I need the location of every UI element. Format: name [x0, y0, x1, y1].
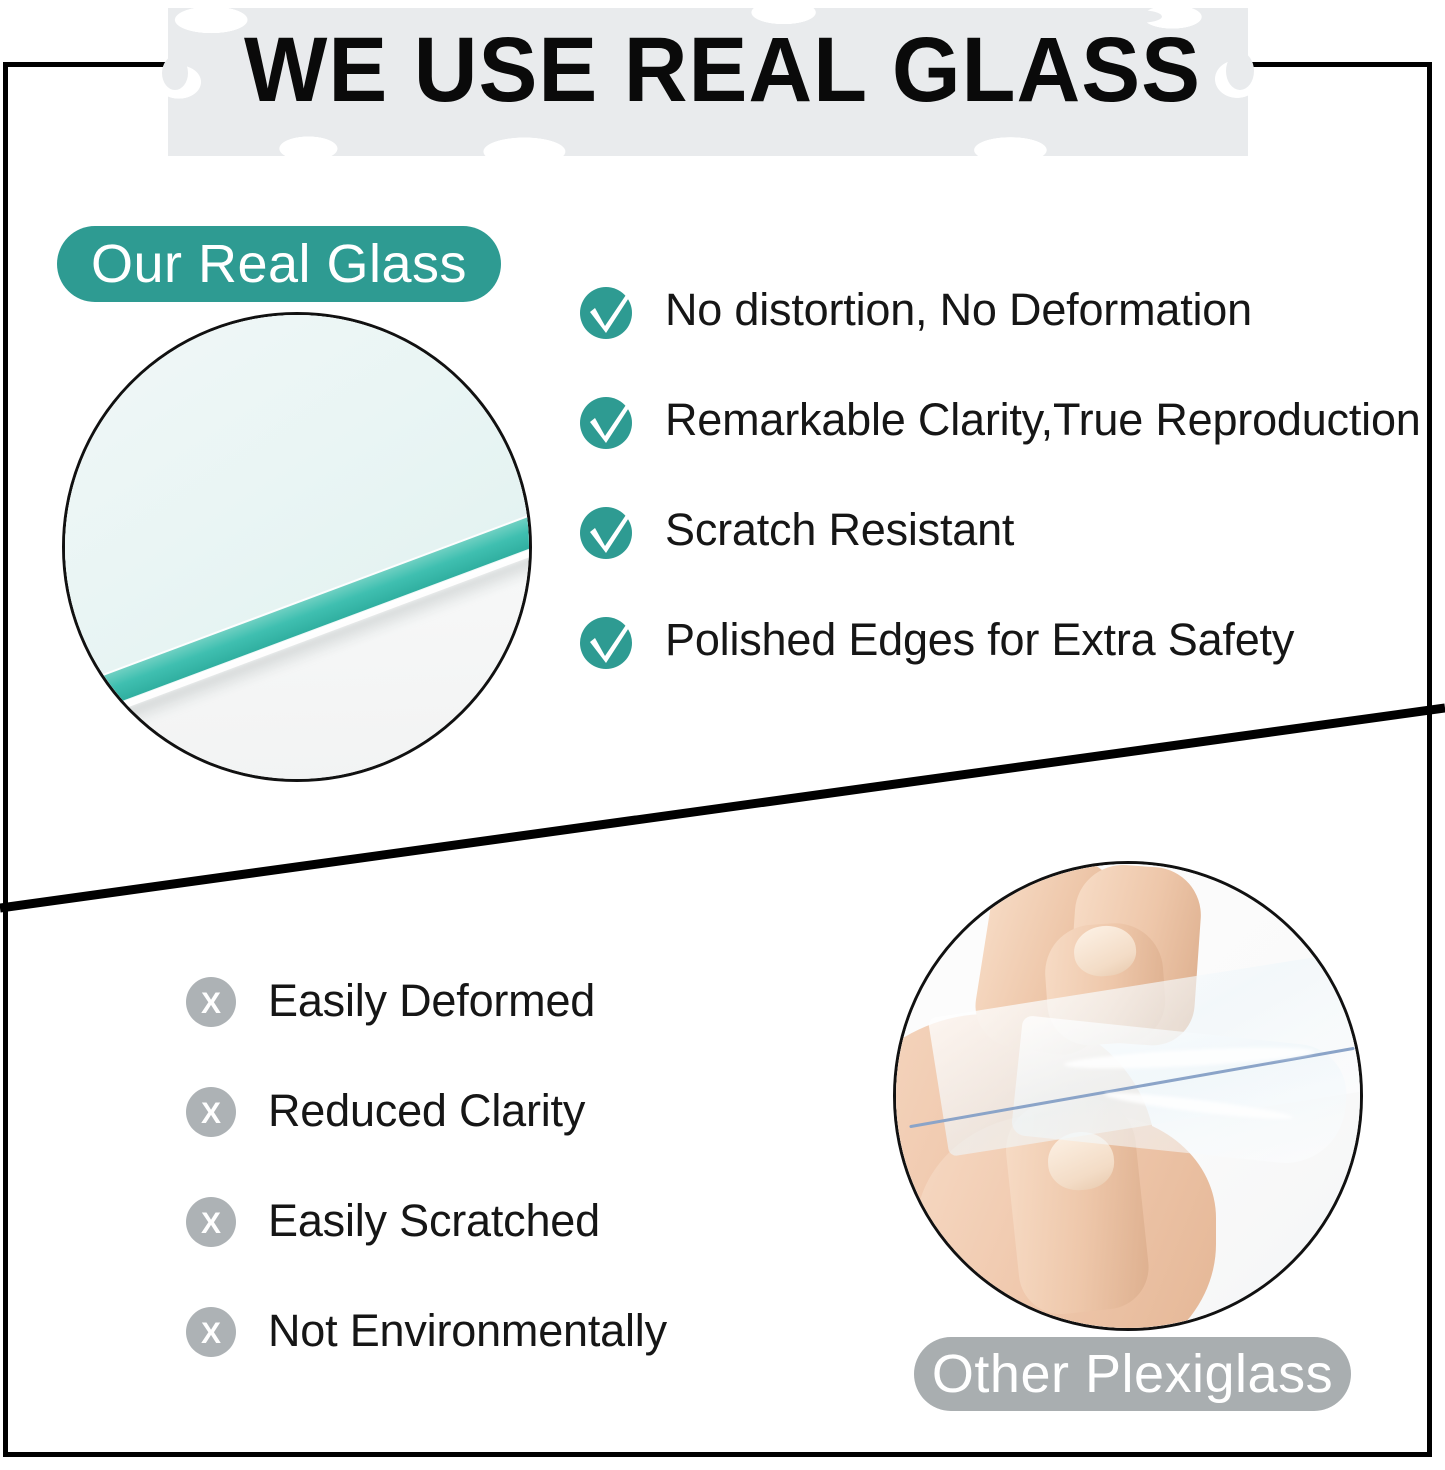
x-icon: X	[186, 1087, 236, 1137]
badge-other-plexiglass-label: Other Plexiglass	[932, 1343, 1333, 1405]
x-icon: X	[186, 1307, 236, 1357]
list-item: X Easily Scratched	[186, 1192, 826, 1302]
brush-speck	[792, 140, 852, 154]
badge-our-real-glass-label: Our Real Glass	[91, 233, 467, 295]
advantage-list: No distortion, No Deformation Remarkable…	[580, 282, 1430, 722]
photo-real-glass-inner	[65, 315, 529, 779]
list-item: X Not Environmentally	[186, 1302, 826, 1412]
list-item: Remarkable Clarity,True Reproduction	[580, 392, 1430, 502]
list-item: X Reduced Clarity	[186, 1082, 826, 1192]
svg-text:X: X	[201, 1207, 221, 1240]
list-item-label: Easily Deformed	[268, 972, 595, 1030]
list-item-label: Scratch Resistant	[665, 502, 1014, 558]
check-icon	[580, 284, 636, 342]
badge-our-real-glass: Our Real Glass	[57, 226, 501, 302]
check-icon	[580, 614, 636, 672]
list-item-label: Easily Scratched	[268, 1192, 600, 1250]
badge-other-plexiglass: Other Plexiglass	[914, 1337, 1351, 1411]
list-item: Polished Edges for Extra Safety	[580, 612, 1430, 722]
list-item: X Easily Deformed	[186, 972, 826, 1082]
x-icon: X	[186, 1197, 236, 1247]
page-title: WE USE REAL GLASS	[29, 0, 1416, 140]
infographic-canvas: WE USE REAL GLASS Our Real Glass	[0, 0, 1445, 1470]
photo-plexiglass-inner	[896, 864, 1360, 1328]
list-item: Scratch Resistant	[580, 502, 1430, 612]
check-icon	[580, 394, 636, 452]
svg-text:X: X	[201, 987, 221, 1020]
x-icon: X	[186, 977, 236, 1027]
list-item-label: Not Environmentally	[268, 1302, 667, 1360]
check-icon	[580, 504, 636, 562]
list-item-label: Remarkable Clarity,True Reproduction	[665, 392, 1421, 448]
svg-text:X: X	[201, 1097, 221, 1130]
drawback-list: X Easily Deformed X Reduced Clarity X	[186, 972, 826, 1412]
list-item-label: Reduced Clarity	[268, 1082, 585, 1140]
photo-real-glass	[62, 312, 532, 782]
photo-plexiglass	[893, 861, 1363, 1331]
list-item-label: Polished Edges for Extra Safety	[665, 612, 1294, 668]
svg-text:X: X	[201, 1317, 221, 1350]
list-item-label: No distortion, No Deformation	[665, 282, 1252, 338]
list-item: No distortion, No Deformation	[580, 282, 1430, 392]
